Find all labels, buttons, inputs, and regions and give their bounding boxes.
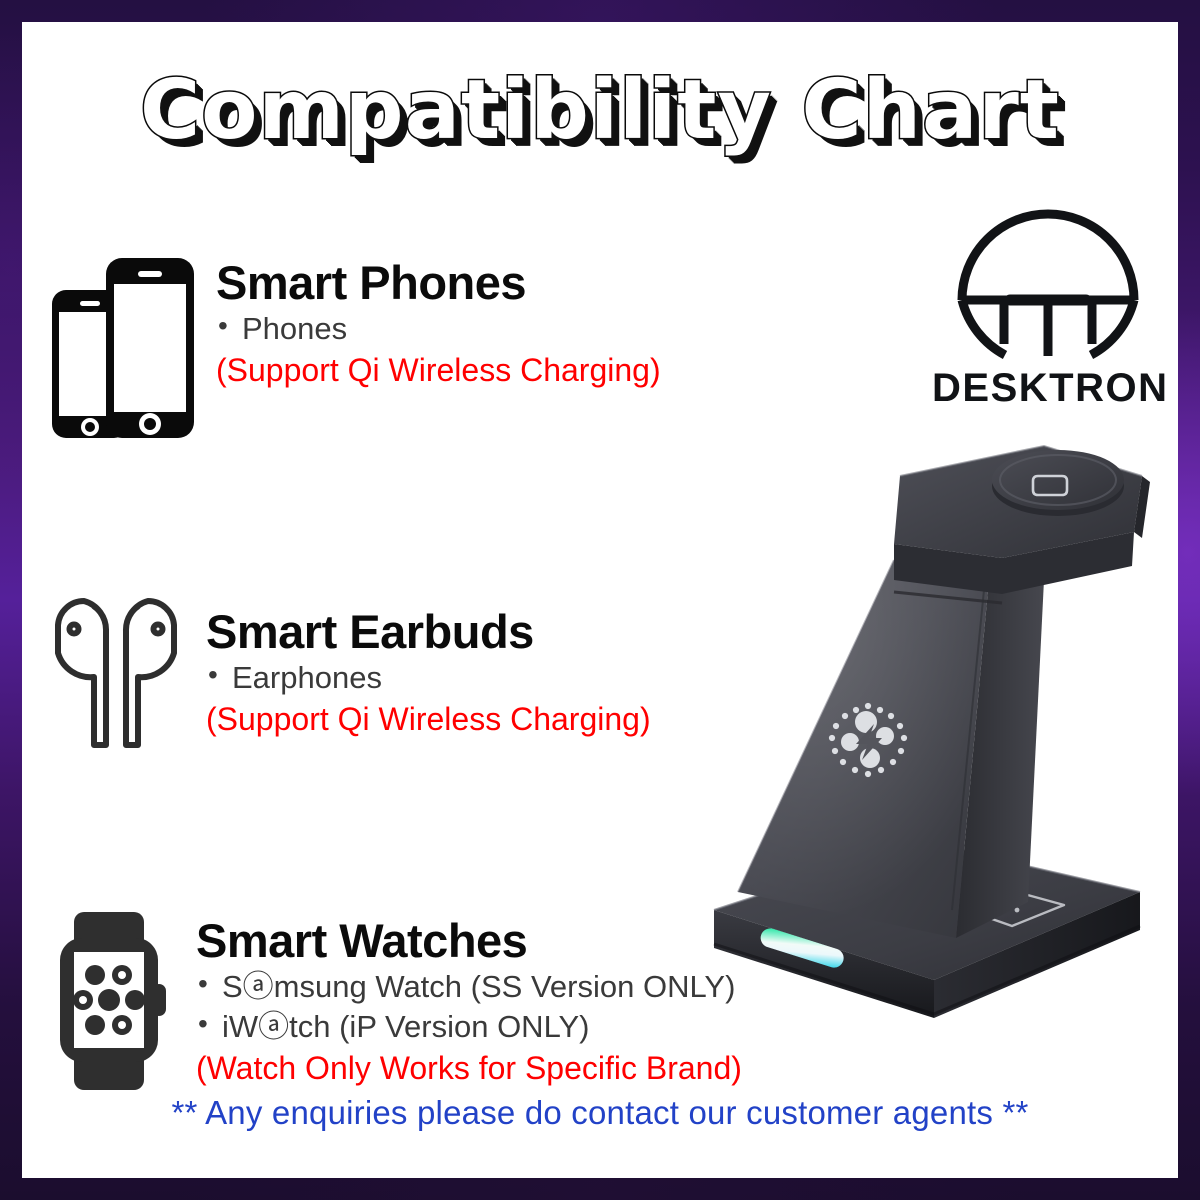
footer-note: ** Any enquiries please do contact our c… bbox=[22, 1094, 1178, 1132]
list-item: Sⓐmsung Watch (SS Version ONLY) bbox=[196, 967, 742, 1007]
section-watches-body: Smart Watches Sⓐmsung Watch (SS Version … bbox=[196, 916, 742, 1088]
list-item: iWⓐtch (iP Version ONLY) bbox=[196, 1007, 742, 1047]
poster-canvas: Compatibility Chart DESKTRON bbox=[22, 22, 1178, 1178]
section-phones-title: Smart Phones bbox=[216, 258, 661, 307]
smartwatch-icon bbox=[48, 912, 178, 1090]
section-earbuds-title: Smart Earbuds bbox=[206, 607, 651, 656]
section-watches-title: Smart Watches bbox=[196, 916, 742, 965]
earbuds-icon bbox=[48, 597, 184, 757]
section-watches-bullets: Sⓐmsung Watch (SS Version ONLY) iWⓐtch (… bbox=[196, 967, 742, 1046]
brand-logo: DESKTRON bbox=[932, 200, 1164, 411]
section-phones-body: Smart Phones Phones (Support Qi Wireless… bbox=[216, 258, 661, 390]
brand-name: DESKTRON bbox=[932, 366, 1164, 411]
list-item: Earphones bbox=[206, 658, 651, 698]
smartphones-icon bbox=[48, 250, 198, 442]
poster-frame: Compatibility Chart DESKTRON bbox=[0, 0, 1200, 1200]
section-earbuds-body: Smart Earbuds Earphones (Support Qi Wire… bbox=[206, 607, 651, 739]
section-phones-note: (Support Qi Wireless Charging) bbox=[216, 350, 661, 390]
section-watches-note: (Watch Only Works for Specific Brand) bbox=[196, 1048, 742, 1088]
desktron-circle-t-logo-icon bbox=[948, 200, 1148, 362]
page-title: Compatibility Chart bbox=[22, 70, 1178, 152]
section-phones-bullets: Phones bbox=[216, 309, 661, 349]
list-item: Phones bbox=[216, 309, 661, 349]
section-earbuds-bullets: Earphones bbox=[206, 658, 651, 698]
section-earbuds-note: (Support Qi Wireless Charging) bbox=[206, 699, 651, 739]
